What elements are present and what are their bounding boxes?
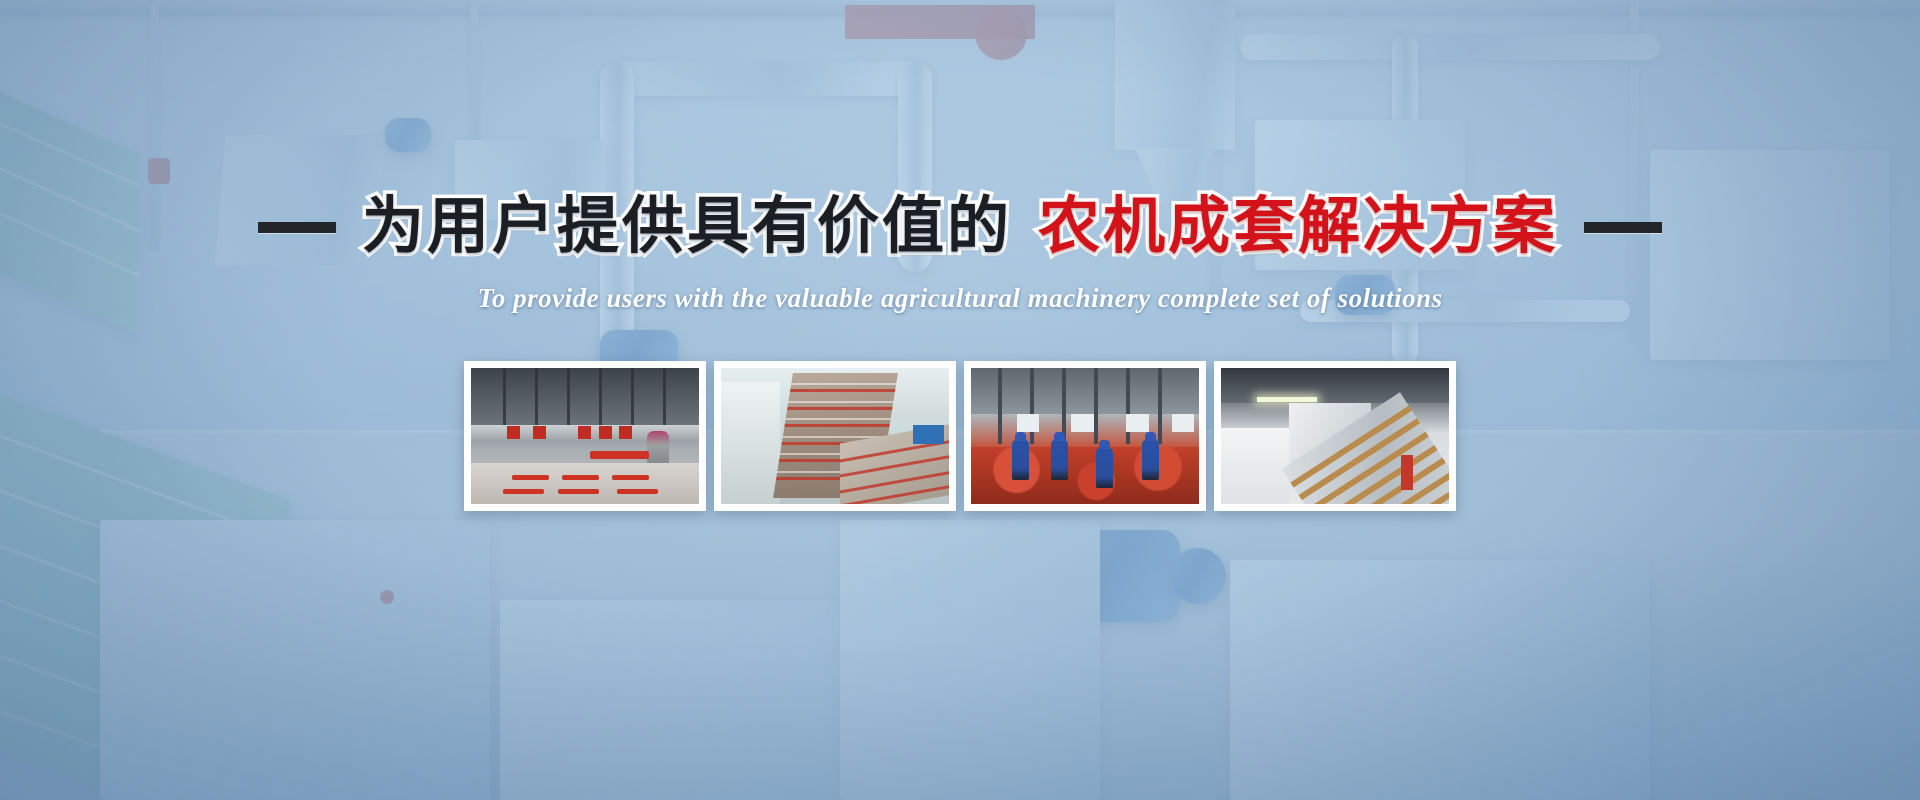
thumbnail-2-image bbox=[721, 368, 949, 504]
thumbnail-2[interactable] bbox=[714, 361, 956, 511]
thumbnail-3[interactable] bbox=[964, 361, 1206, 511]
hero-banner: 为用户提供具有价值的 农机成套解决方案 To provide users wit… bbox=[0, 0, 1920, 800]
thumbnail-4-image bbox=[1221, 368, 1449, 504]
right-dash-rule bbox=[1584, 222, 1662, 233]
left-dash-rule bbox=[258, 222, 336, 233]
banner-content: 为用户提供具有价值的 农机成套解决方案 To provide users wit… bbox=[0, 0, 1920, 800]
headline-subtitle: To provide users with the valuable agric… bbox=[0, 283, 1920, 314]
headline-red-text: 农机成套解决方案 bbox=[1038, 196, 1558, 258]
headline-dark-text: 为用户提供具有价值的 bbox=[362, 196, 1012, 258]
thumbnail-4[interactable] bbox=[1214, 361, 1456, 511]
thumbnail-gallery bbox=[464, 361, 1456, 511]
thumbnail-1[interactable] bbox=[464, 361, 706, 511]
headline-row: 为用户提供具有价值的 农机成套解决方案 bbox=[0, 196, 1920, 258]
thumbnail-1-image bbox=[471, 368, 699, 504]
thumbnail-3-image bbox=[971, 368, 1199, 504]
